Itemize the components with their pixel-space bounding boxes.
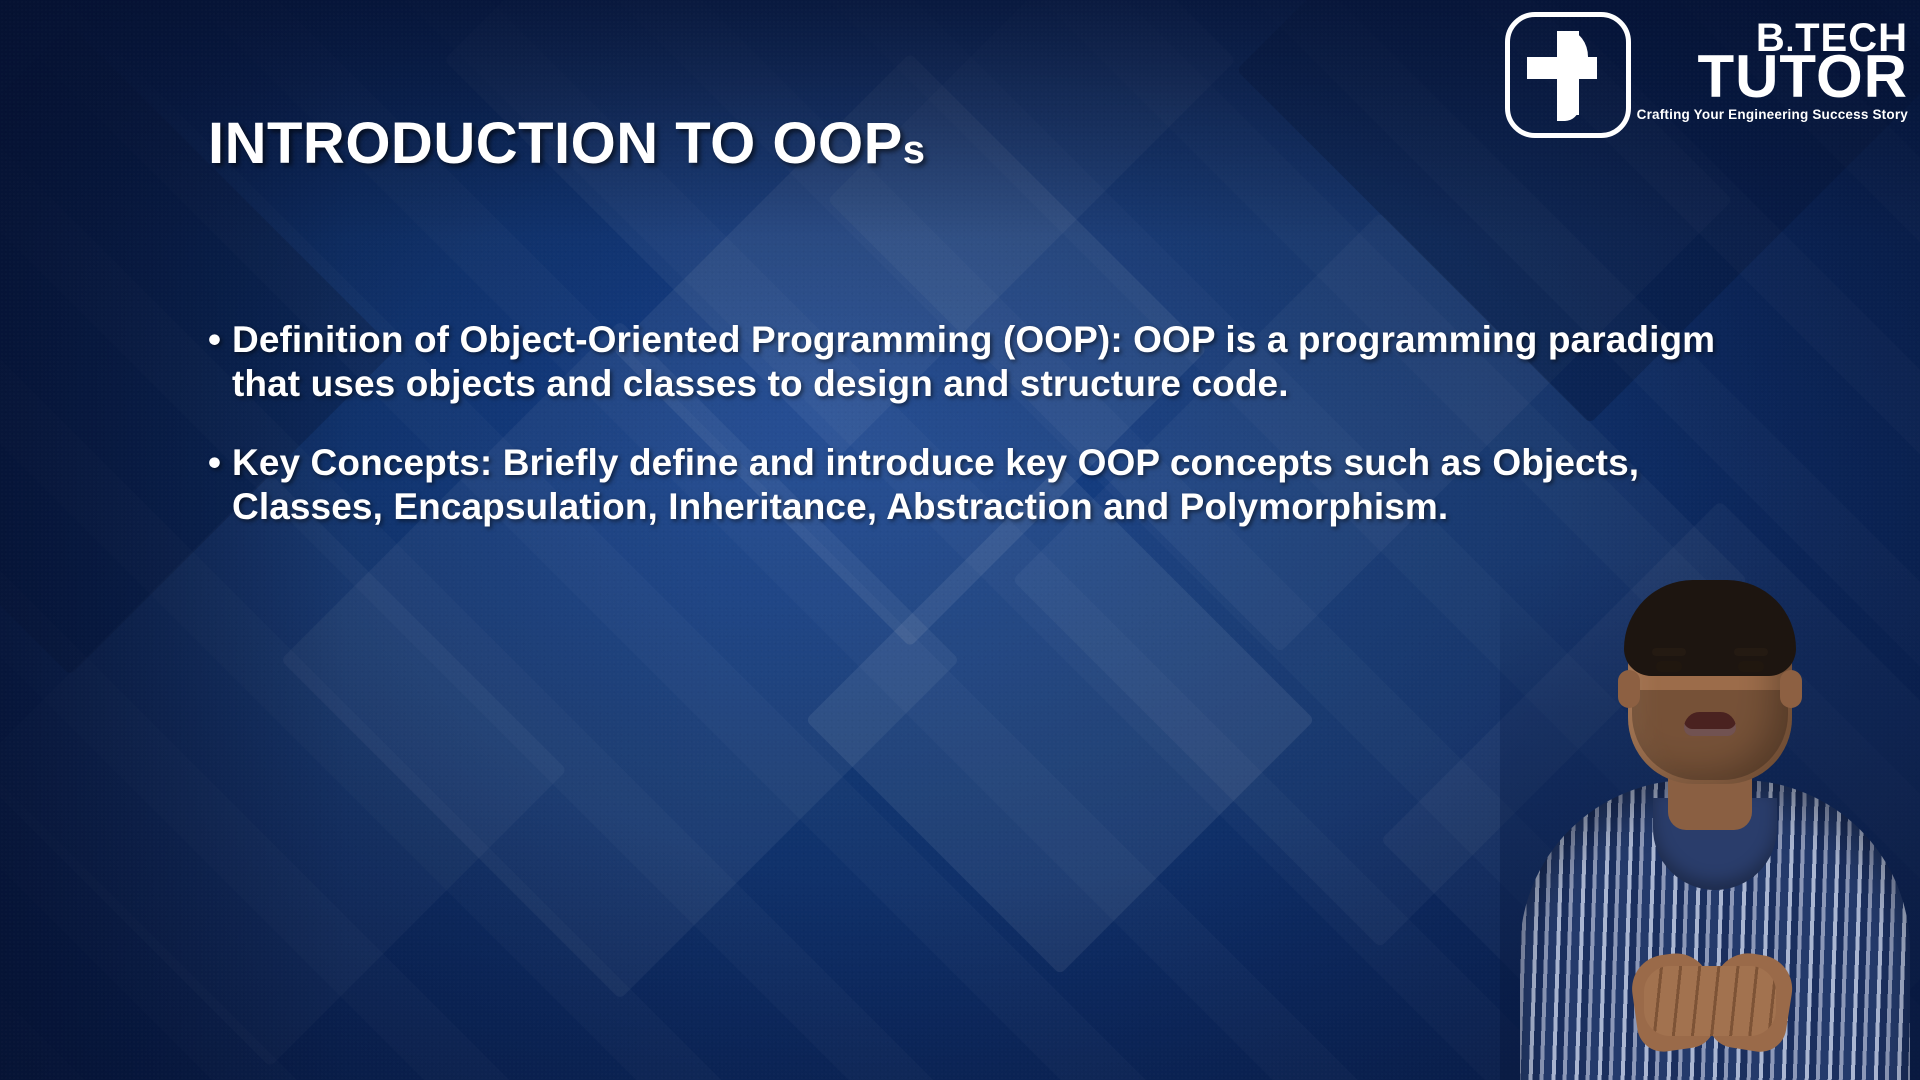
presenter-eyebrow-right [1734, 648, 1768, 656]
bullet-marker-icon: • [208, 318, 232, 362]
presenter-eyebrow-left [1652, 648, 1686, 656]
slide-body: • Definition of Object-Oriented Programm… [208, 318, 1718, 565]
slide-title-main: INTRODUCTION TO OOP [208, 111, 903, 176]
slide-title-suffix: s [903, 128, 926, 172]
logo-mark-icon [1505, 12, 1631, 138]
slide-title: INTRODUCTION TO OOPs [208, 110, 926, 177]
bullet-item: • Key Concepts: Briefly define and intro… [208, 441, 1718, 528]
presenter-video-overlay [1500, 560, 1920, 1080]
presentation-slide: B.TECH TUTOR Crafting Your Engineering S… [0, 0, 1920, 1080]
presenter-ear-left [1618, 670, 1640, 708]
bullet-marker-icon: • [208, 441, 232, 485]
logo-brand-bottom: TUTOR [1637, 51, 1908, 104]
logo-tagline: Crafting Your Engineering Success Story [1637, 107, 1908, 122]
presenter-hair [1624, 580, 1796, 676]
presenter-fingers [1644, 966, 1776, 1036]
bullet-item: • Definition of Object-Oriented Programm… [208, 318, 1718, 405]
bullet-text: Definition of Object-Oriented Programmin… [232, 318, 1718, 405]
presenter-mouth [1684, 712, 1736, 736]
bullet-text: Key Concepts: Briefly define and introdu… [232, 441, 1718, 528]
logo-wordmark: B.TECH TUTOR Crafting Your Engineering S… [1637, 6, 1908, 122]
presenter-eye-left [1656, 661, 1682, 672]
presenter-ear-right [1780, 670, 1802, 708]
brand-logo: B.TECH TUTOR Crafting Your Engineering S… [1505, 6, 1908, 142]
presenter-eye-right [1738, 661, 1764, 672]
